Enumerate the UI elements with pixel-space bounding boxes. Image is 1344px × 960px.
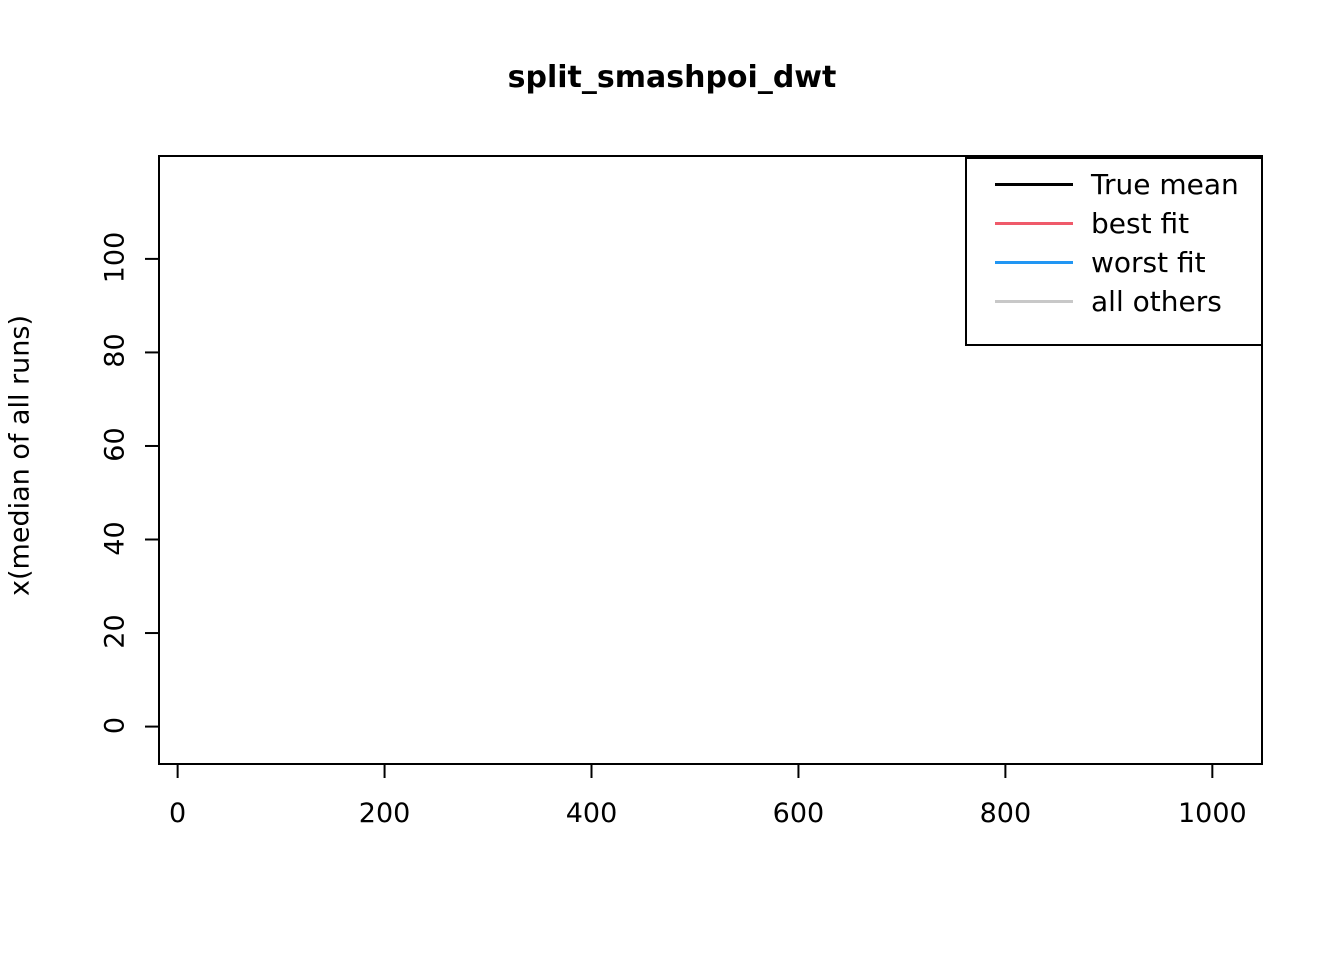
x-tick-label: 800 [945,798,1065,829]
y-tick-label: 40 [100,508,131,568]
x-tick-label: 600 [738,798,858,829]
x-tick-label: 0 [118,798,238,829]
chart-legend: True mean best fit worst fit all others [965,157,1263,346]
y-tick-label: 100 [100,227,131,287]
legend-swatch-worst-fit [995,261,1073,264]
legend-item-true-mean: True mean [967,165,1261,204]
legend-item-all-others: all others [967,282,1261,321]
legend-label-worst-fit: worst fit [1091,249,1206,277]
y-tick-label: 20 [100,602,131,662]
legend-label-all-others: all others [1091,288,1222,316]
legend-swatch-true-mean [995,183,1073,186]
legend-item-best-fit: best fit [967,204,1261,243]
y-tick-label: 60 [100,414,131,474]
legend-swatch-all-others [995,300,1073,303]
x-tick-label: 1000 [1152,798,1272,829]
legend-item-worst-fit: worst fit [967,243,1261,282]
x-tick-label: 200 [325,798,445,829]
legend-swatch-best-fit [995,222,1073,225]
chart-root: split_smashpoi_dwt x(median of all runs)… [0,0,1344,960]
y-tick-label: 0 [100,695,131,755]
x-tick-label: 400 [532,798,652,829]
legend-label-true-mean: True mean [1091,171,1239,199]
y-tick-label: 80 [100,321,131,381]
legend-label-best-fit: best fit [1091,210,1189,238]
